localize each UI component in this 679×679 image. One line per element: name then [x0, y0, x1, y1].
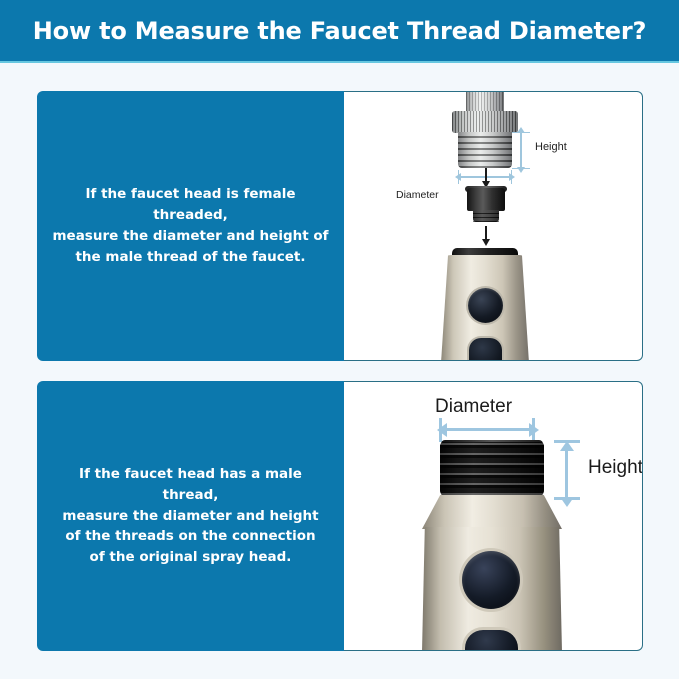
assembly-arrow-down-icon-2	[485, 226, 487, 240]
page-header: How to Measure the Faucet Thread Diamete…	[0, 0, 679, 61]
spray-head-round-button	[468, 288, 503, 323]
card-2-text-line-1: If the faucet head has a male thread,	[51, 464, 330, 506]
height-double-arrow-icon	[565, 450, 568, 498]
height-double-arrow-icon	[520, 132, 522, 168]
card-1-text: If the faucet head is female threaded, m…	[51, 184, 330, 268]
black-male-thread-icon	[440, 442, 544, 498]
card-1-text-pane: If the faucet head is female threaded, m…	[37, 91, 344, 361]
instruction-card-male-thread: If the faucet head has a male thread, me…	[37, 381, 643, 651]
card-2-text-line-4: of the original spray head.	[51, 547, 330, 568]
card-1-image-pane: Height Diameter	[344, 91, 643, 361]
instruction-card-female-thread: If the faucet head is female threaded, m…	[37, 91, 643, 361]
card-1-text-line-2: measure the diameter and height of	[51, 226, 330, 247]
card-2-diameter-label: Diameter	[435, 396, 512, 418]
knurled-collar-icon	[452, 111, 518, 133]
steel-shoulder	[422, 495, 562, 529]
card-2-text-pane: If the faucet head has a male thread, me…	[37, 381, 344, 651]
page-title: How to Measure the Faucet Thread Diamete…	[33, 17, 646, 45]
black-adapter-thread	[473, 210, 499, 222]
black-adapter-icon	[467, 188, 505, 211]
knurled-faucet-stub-icon	[466, 91, 504, 112]
card-1-diameter-label: Diameter	[396, 189, 439, 201]
spray-head-rect-button	[465, 630, 518, 651]
card-2-text: If the faucet head has a male thread, me…	[51, 464, 330, 569]
male-thread-spray-head-diagram: Diameter Height	[344, 382, 642, 650]
female-threaded-faucet-diagram: Height Diameter	[344, 92, 642, 360]
diameter-double-arrow-icon	[446, 428, 530, 431]
spray-head-rect-button	[469, 338, 502, 361]
card-2-text-line-3: of the threads on the connection	[51, 526, 330, 547]
male-thread-icon	[458, 132, 512, 168]
header-underline	[0, 61, 679, 63]
card-2-text-line-2: measure the diameter and height	[51, 506, 330, 527]
card-2-height-label: Height	[588, 457, 643, 479]
card-1-text-line-3: the male thread of the faucet.	[51, 247, 330, 268]
spray-head-round-button	[462, 551, 520, 609]
assembly-arrow-down-icon-1	[485, 168, 487, 182]
card-2-image-pane: Diameter Height	[344, 381, 643, 651]
card-1-text-line-1: If the faucet head is female threaded,	[51, 184, 330, 226]
card-1-height-label: Height	[535, 141, 567, 153]
